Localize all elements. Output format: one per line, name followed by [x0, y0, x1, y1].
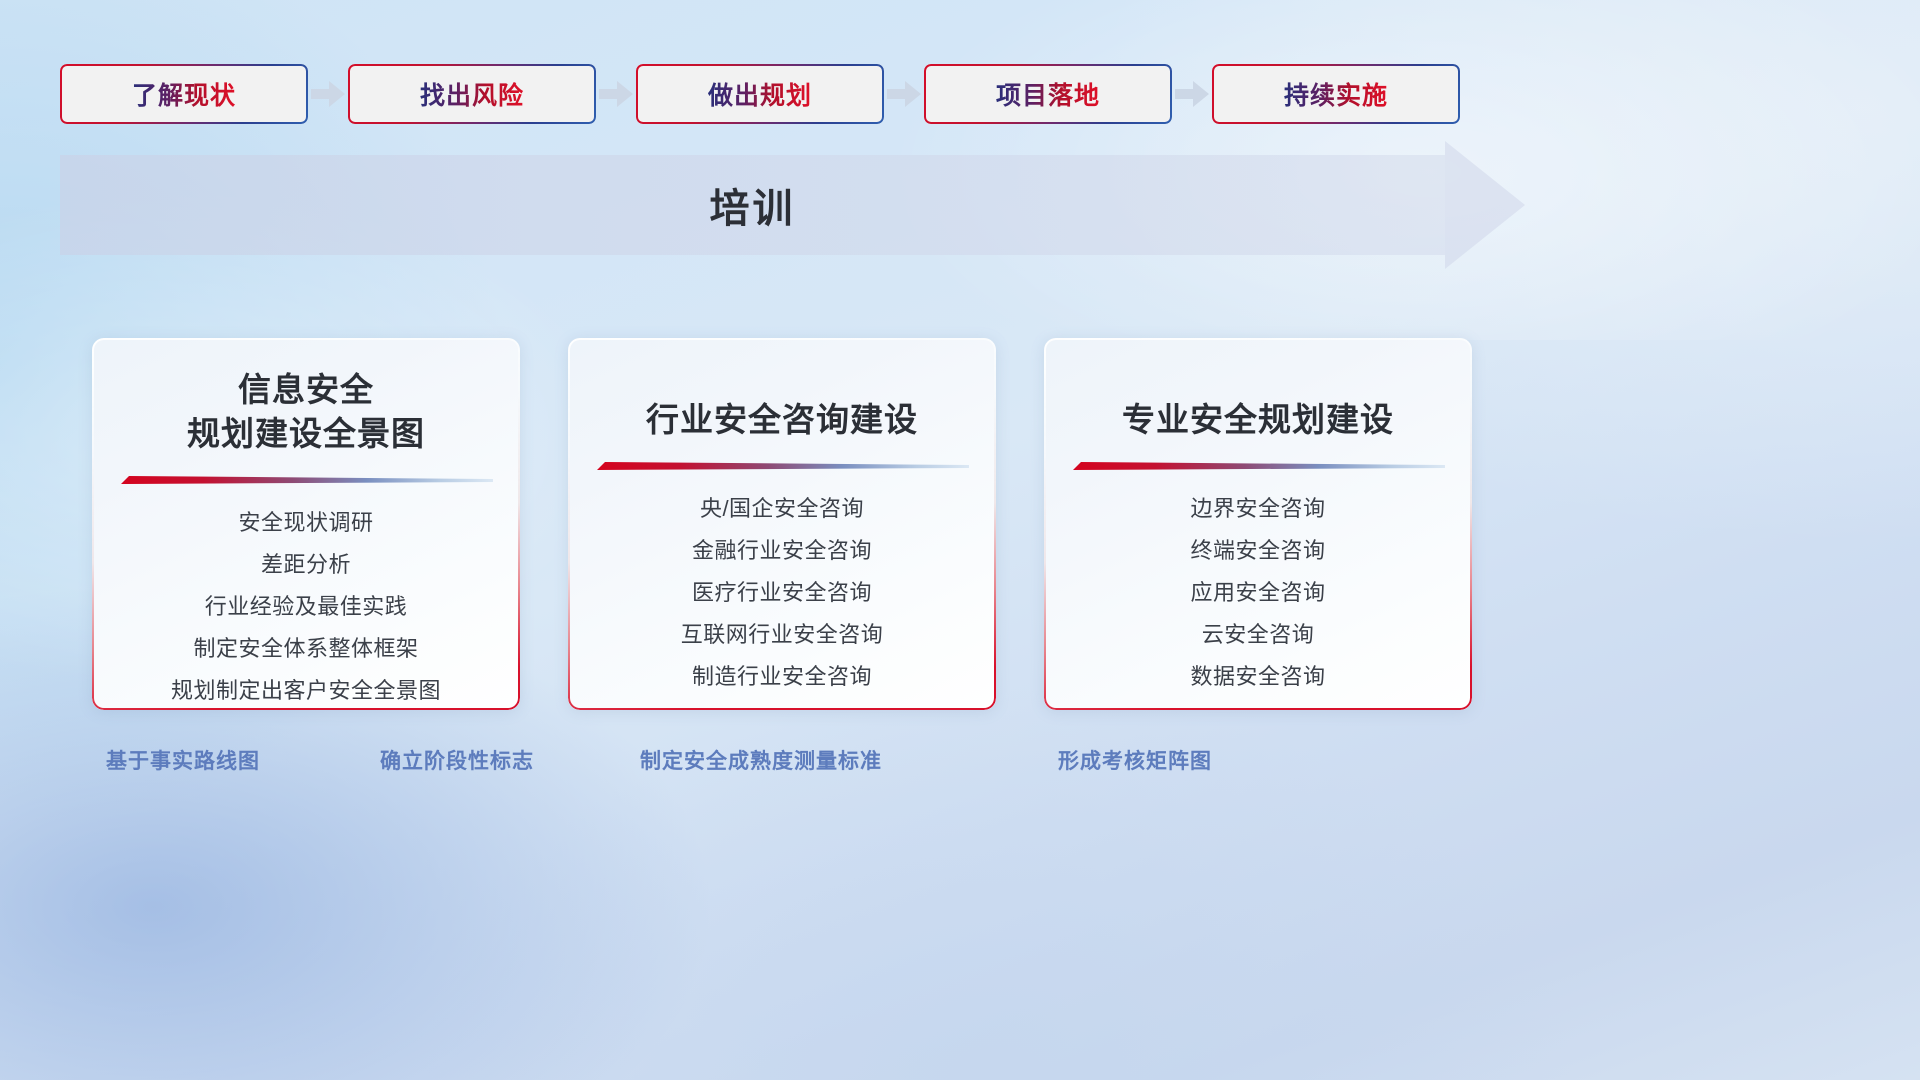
list-item: 数据安全咨询 — [1190, 660, 1325, 693]
step-arrow-1 — [308, 64, 348, 124]
step-label-2: 找出风险 — [420, 76, 524, 112]
process-step-row: 了解现状 找出风险 做出规划 项目落地 — [60, 64, 1860, 124]
step-box-2[interactable]: 找出风险 — [348, 64, 596, 124]
step-box-4[interactable]: 项目落地 — [924, 64, 1172, 124]
card-list-1: 安全现状调研 差距分析 行业经验及最佳实践 制定安全体系整体框架 规划制定出客户… — [116, 506, 496, 707]
list-item: 云安全咨询 — [1202, 618, 1315, 651]
card-divider-2 — [595, 460, 969, 472]
slide-canvas: 了解现状 找出风险 做出规划 项目落地 — [0, 0, 1920, 1080]
capability-card-row: 信息安全 规划建设全景图 — [92, 338, 1828, 710]
list-item: 安全现状调研 — [238, 506, 373, 539]
card-title-3-line-1: 专业安全规划建设 — [1122, 398, 1394, 442]
list-item: 规划制定出客户安全全景图 — [171, 674, 441, 707]
training-arrow-band: 培训 — [60, 155, 1510, 255]
caption-3: 制定安全成熟度测量标准 — [640, 745, 882, 775]
step-label-5: 持续实施 — [1284, 76, 1388, 112]
list-item: 行业经验及最佳实践 — [205, 590, 408, 623]
list-item: 差距分析 — [261, 548, 351, 581]
step-box-5[interactable]: 持续实施 — [1212, 64, 1460, 124]
card-title-3: 专业安全规划建设 — [1122, 398, 1394, 442]
list-item: 制定安全体系整体框架 — [193, 632, 418, 665]
band-label: 培训 — [60, 155, 1445, 255]
card-list-2: 央/国企安全咨询 金融行业安全咨询 医疗行业安全咨询 互联网行业安全咨询 制造行… — [592, 492, 972, 693]
step-label-1: 了解现状 — [132, 76, 236, 112]
card-title-1: 信息安全 规划建设全景图 — [187, 368, 425, 456]
list-item: 金融行业安全咨询 — [692, 534, 872, 567]
caption-1: 基于事实路线图 — [106, 745, 260, 775]
step-arrow-2 — [596, 64, 636, 124]
list-item: 应用安全咨询 — [1190, 576, 1325, 609]
caption-row: 基于事实路线图 确立阶段性标志 制定安全成熟度测量标准 形成考核矩阵图 — [0, 745, 1920, 791]
capability-card-3[interactable]: 专业安全规划建设 — [1044, 338, 1472, 710]
capability-card-2[interactable]: 行业安全咨询建设 — [568, 338, 996, 710]
step-arrow-4 — [1172, 64, 1212, 124]
card-title-1-line-2: 规划建设全景图 — [187, 412, 425, 456]
list-item: 边界安全咨询 — [1190, 492, 1325, 525]
card-divider-1 — [119, 474, 493, 486]
caption-2: 确立阶段性标志 — [380, 745, 534, 775]
step-box-1[interactable]: 了解现状 — [60, 64, 308, 124]
step-box-3[interactable]: 做出规划 — [636, 64, 884, 124]
card-title-1-line-1: 信息安全 — [187, 368, 425, 412]
band-arrowhead-icon — [1445, 141, 1525, 269]
list-item: 终端安全咨询 — [1190, 534, 1325, 567]
caption-4: 形成考核矩阵图 — [1058, 745, 1212, 775]
step-arrow-3 — [884, 64, 924, 124]
step-label-4: 项目落地 — [996, 76, 1100, 112]
step-label-3: 做出规划 — [708, 76, 812, 112]
list-item: 央/国企安全咨询 — [700, 492, 864, 525]
card-title-2-line-1: 行业安全咨询建设 — [646, 398, 918, 442]
card-divider-3 — [1071, 460, 1445, 472]
card-title-2: 行业安全咨询建设 — [646, 398, 918, 442]
card-list-3: 边界安全咨询 终端安全咨询 应用安全咨询 云安全咨询 数据安全咨询 — [1068, 492, 1448, 693]
list-item: 互联网行业安全咨询 — [681, 618, 884, 651]
list-item: 医疗行业安全咨询 — [692, 576, 872, 609]
capability-card-1[interactable]: 信息安全 规划建设全景图 — [92, 338, 520, 710]
list-item: 制造行业安全咨询 — [692, 660, 872, 693]
